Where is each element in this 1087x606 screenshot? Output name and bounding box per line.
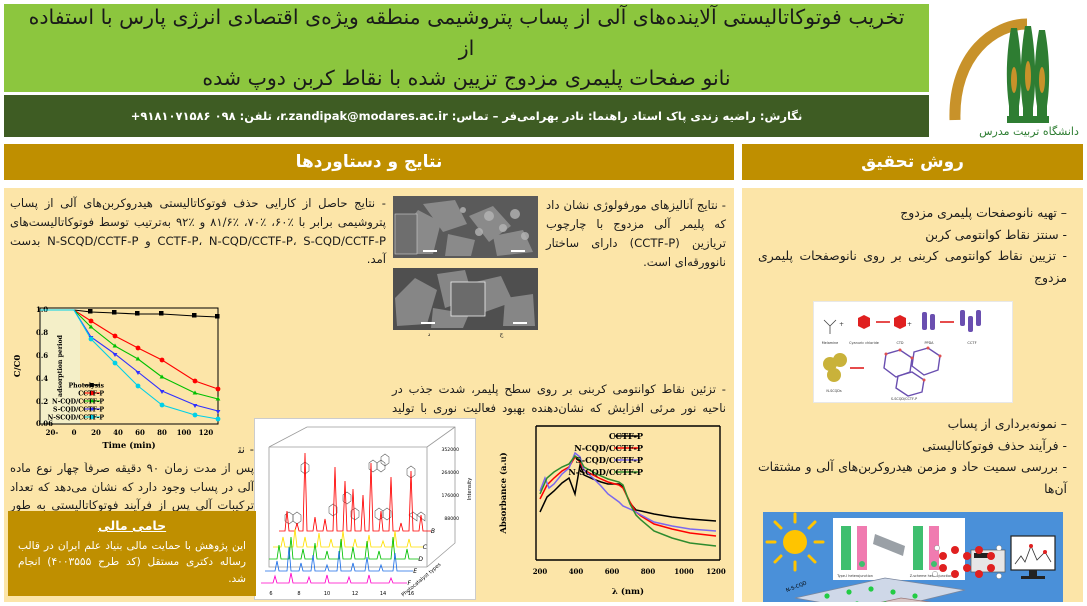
label-ppda: PPDA xyxy=(924,341,934,345)
chart-uv-vis-absorbance: Absorbance (a.u) λ (nm) 200 400 600 800 … xyxy=(488,416,730,600)
svg-text:100: 100 xyxy=(177,428,192,437)
svg-text:600: 600 xyxy=(605,567,620,576)
label-s-scqd-cctf-p: S-SCQD/CCTF-P xyxy=(890,397,916,401)
svg-text:0: 0 xyxy=(72,428,77,437)
figure-heterojunction: Type-I heterojunction Z-scheme heterojun… xyxy=(763,512,1063,602)
poster-title-band: تخریب فوتوکاتالیستی آلاینده‌های آلی از پ… xyxy=(4,4,929,92)
svg-text:10: 10 xyxy=(324,591,330,597)
svg-text:16: 16 xyxy=(408,591,414,597)
results-text-morphology: - نتایج آنالیزهای مورفولوژی نشان داد که … xyxy=(546,196,726,273)
sun-icon xyxy=(767,514,823,570)
plus-sign-2: + xyxy=(906,321,911,328)
svg-text:S-CQD/CCTF-P: S-CQD/CCTF-P xyxy=(53,407,104,414)
sem-label-d: د xyxy=(428,331,431,338)
results-heading: نتایج و دستاوردها xyxy=(4,144,734,180)
author-band: نگارش: راضیه زندی پاک استاد راهنما: نادر… xyxy=(4,95,929,137)
method-step: - تزیین نقاط کوانتومی کربنی بر روی نانوص… xyxy=(758,245,1067,288)
gcms-y-label: Intensity xyxy=(467,478,473,501)
svg-text:Z-scheme heterojunction: Z-scheme heterojunction xyxy=(909,574,951,578)
method-steps-group-2: – نمونه‌برداری از پساب - فرآیند حذف فوتو… xyxy=(742,405,1083,506)
svg-text:264000: 264000 xyxy=(441,470,459,476)
svg-text:0.2: 0.2 xyxy=(36,397,48,406)
svg-text:400: 400 xyxy=(569,567,584,576)
svg-text:14: 14 xyxy=(380,591,386,597)
label-melamine: Melamine xyxy=(821,341,838,345)
university-logo: دانشگاه تربیت مدرس xyxy=(933,0,1087,140)
svg-text:0.4: 0.4 xyxy=(36,374,48,383)
plus-sign-1: + xyxy=(838,321,843,328)
method-step: – نمونه‌برداری از پساب xyxy=(758,413,1067,435)
poster-header: تخریب فوتوکاتالیستی آلاینده‌های آلی از پ… xyxy=(0,0,1087,140)
svg-text:80: 80 xyxy=(157,428,167,437)
svg-text:N-SCQD/CCTF-P: N-SCQD/CCTF-P xyxy=(48,415,105,422)
svg-text:40: 40 xyxy=(113,428,123,437)
uv-x-label: λ (nm) xyxy=(612,586,644,597)
svg-text:0.6: 0.6 xyxy=(36,351,48,360)
svg-text:60: 60 xyxy=(135,428,145,437)
svg-text:N-SCQD/CCTF-P: N-SCQD/CCTF-P xyxy=(568,467,643,477)
author-contact-line: نگارش: راضیه زندی پاک استاد راهنما: نادر… xyxy=(131,109,803,123)
svg-text:-20: -20 xyxy=(46,428,59,437)
tarbiat-modares-logo-icon: دانشگاه تربیت مدرس xyxy=(935,2,1085,138)
svg-text:S-CQD/CCTF-P: S-CQD/CCTF-P xyxy=(576,455,643,465)
svg-text:176000: 176000 xyxy=(441,493,459,499)
label-cctf: CCTF xyxy=(967,341,976,345)
funding-title: حامی مالی xyxy=(18,518,246,533)
chart-gcms-chromatogram: 352000 264000 176000 88000 Intensity xyxy=(254,418,476,600)
kinetics-annotation: adsorption period xyxy=(57,334,64,397)
chart-photocatalytic-kinetics: adsorption period 1.0 0.8 0.6 0.4 0.2 0.… xyxy=(10,300,238,462)
svg-text:800: 800 xyxy=(641,567,656,576)
svg-text:352000: 352000 xyxy=(441,447,459,453)
sem-image-top xyxy=(393,196,538,258)
kinetics-y-label: C/C0 xyxy=(13,355,23,378)
svg-text:Photolysis: Photolysis xyxy=(68,383,104,390)
svg-text:0.8: 0.8 xyxy=(36,328,48,337)
method-step: - سنتز نقاط کوانتومی کربن xyxy=(758,224,1067,246)
sem-image-bottom xyxy=(393,268,538,330)
poster-root: تخریب فوتوکاتالیستی آلاینده‌های آلی از پ… xyxy=(0,0,1087,606)
svg-text:Type-I heterojunction: Type-I heterojunction xyxy=(836,574,873,578)
uv-y-label: Absorbance (a.u) xyxy=(498,452,509,534)
svg-text:20: 20 xyxy=(91,428,101,437)
svg-text:1000: 1000 xyxy=(674,567,694,576)
svg-text:E: E xyxy=(413,568,417,575)
svg-text:8: 8 xyxy=(297,591,300,597)
svg-text:B: B xyxy=(431,528,435,535)
figure-synthesis-scheme: Melamine + Cyanuric chloride CTD + PPDA xyxy=(813,301,1013,403)
svg-text:N-CQD/CCTF-P: N-CQD/CCTF-P xyxy=(52,399,104,406)
funding-body: این پژوهش با حمایت مالی بنیاد علم ایران … xyxy=(18,538,246,587)
sem-label-c: ج xyxy=(500,331,504,338)
method-heading: روش تحقیق xyxy=(742,144,1083,180)
title-line-2: نانو صفحات پلیمری مزدوج تزیین شده با نقا… xyxy=(18,63,915,94)
svg-text:CCTF-P: CCTF-P xyxy=(609,431,643,441)
kinetics-x-label: Time (min) xyxy=(102,440,155,451)
svg-text:D: D xyxy=(418,556,423,563)
logo-caption: دانشگاه تربیت مدرس xyxy=(979,125,1079,138)
method-body: – تهیه نانوصفحات پلیمری مزدوج - سنتز نقا… xyxy=(742,188,1083,602)
method-step: - فرآیند حذف فوتوکاتالیستی xyxy=(758,435,1067,457)
label-n-scqds: N-SCQDs xyxy=(826,389,842,393)
svg-text:120: 120 xyxy=(199,428,214,437)
svg-text:CCTF-P: CCTF-P xyxy=(78,391,104,398)
svg-text:1200: 1200 xyxy=(706,567,726,576)
method-column: روش تحقیق – تهیه نانوصفحات پلیمری مزدوج … xyxy=(742,144,1083,602)
svg-text:12: 12 xyxy=(352,591,358,597)
svg-text:N-CQD/CCTF-P: N-CQD/CCTF-P xyxy=(574,443,643,453)
sem-image-stack: ج د xyxy=(393,196,538,338)
svg-text:200: 200 xyxy=(533,567,548,576)
funding-box: حامی مالی این پژوهش با حمایت مالی بنیاد … xyxy=(8,511,256,596)
label-ctd: CTD xyxy=(896,341,903,345)
svg-text:6: 6 xyxy=(269,591,272,597)
method-steps-group-1: – تهیه نانوصفحات پلیمری مزدوج - سنتز نقا… xyxy=(742,188,1083,295)
results-column: نتایج و دستاوردها - نتایج آنالیزهای مورف… xyxy=(4,144,734,602)
label-cyanuric-chloride: Cyanuric chloride xyxy=(849,341,879,345)
page-title: تخریب فوتوکاتالیستی آلاینده‌های آلی از پ… xyxy=(18,2,915,94)
svg-text:88000: 88000 xyxy=(444,516,459,522)
results-text-efficiency: - نتایج حاصل از کارایی حذف فوتوکاتالیستی… xyxy=(10,194,386,269)
method-step: – تهیه نانوصفحات پلیمری مزدوج xyxy=(758,202,1067,224)
method-step: - بررسی سمیت حاد و مزمن هیدروکربن‌های آل… xyxy=(758,456,1067,499)
results-body: - نتایج آنالیزهای مورفولوژی نشان داد که … xyxy=(4,188,734,602)
title-line-1: تخریب فوتوکاتالیستی آلاینده‌های آلی از پ… xyxy=(18,2,915,64)
